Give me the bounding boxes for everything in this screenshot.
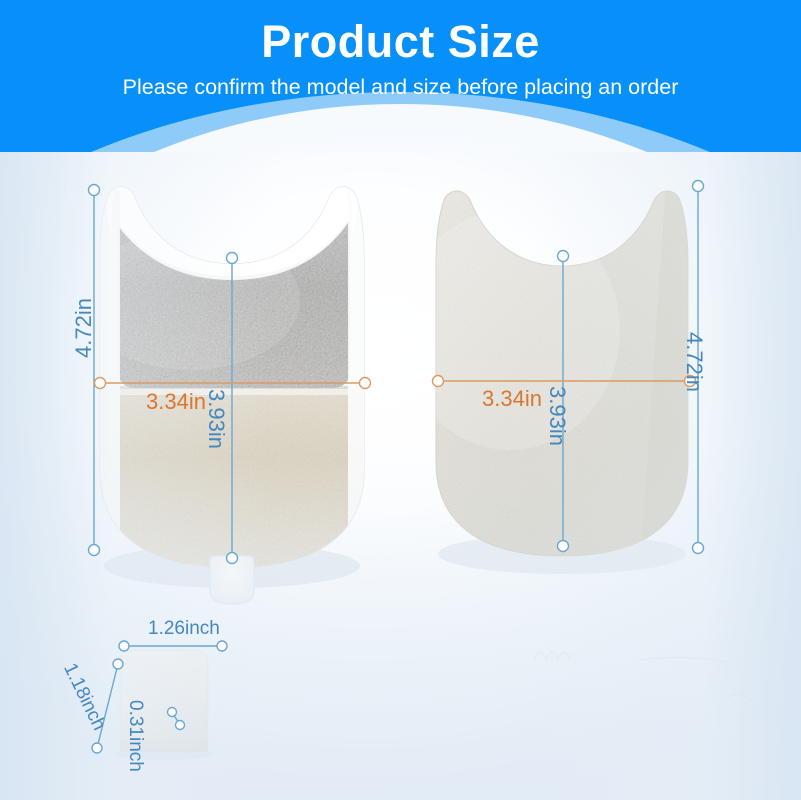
page-title: Product Size <box>0 16 801 68</box>
product-size-infographic: Product Size Please confirm the model an… <box>0 0 801 800</box>
header-banner: Product Size Please confirm the model an… <box>0 0 801 152</box>
page-subtitle: Please confirm the model and size before… <box>0 74 801 100</box>
